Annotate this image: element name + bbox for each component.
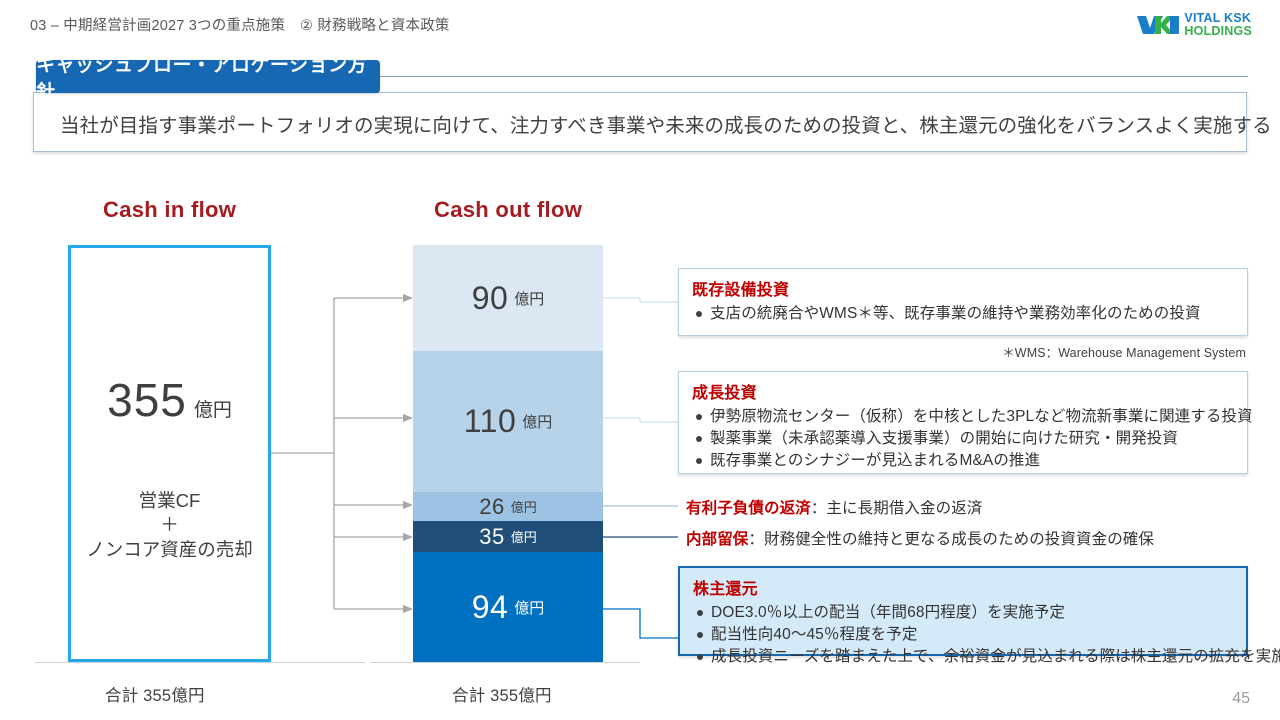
bullet-text: 配当性向40〜45％程度を予定: [711, 624, 917, 646]
segment-value-110: 110: [464, 403, 517, 440]
logo-line2: HOLDINGS: [1184, 25, 1252, 38]
cash-in-amount: 355 億円: [107, 373, 232, 427]
segment-value-94: 94: [472, 589, 509, 626]
cash-in-value: 355: [107, 373, 187, 427]
list-item: 製薬事業（未承認薬導入支援事業）の開始に向けた研究・開発投資: [692, 428, 1235, 450]
segment-unit-90: 億円: [514, 288, 544, 309]
note-debt-repayment: 有利子負債の返済：主に長期借入金の返済: [686, 496, 982, 518]
note-retained-earnings: 内部留保：財務健全性の維持と更なる成長のための投資資金の確保: [686, 527, 1154, 549]
page-number: 45: [1232, 690, 1250, 708]
cash-out-total: 合計 355億円: [452, 682, 552, 706]
bar-segment-shareholder-return: 94 億円: [413, 552, 603, 662]
bar-segment-debt-repayment: 26 億円: [413, 492, 603, 521]
bullet-dot-icon: [696, 311, 702, 317]
bullet-dot-icon: [697, 632, 703, 638]
bar-segment-existing-capex: 90 億円: [413, 245, 603, 351]
card-growth-bullets: 伊勢原物流センター（仮称）を中核とした3PLなど物流新事業に関連する投資 製薬事…: [692, 406, 1235, 472]
list-item: DOE3.0％以上の配当（年間68円程度）を実施予定: [693, 602, 1234, 624]
cash-out-stacked-bar: 90 億円 110 億円 26 億円 35 億円 94 億円: [413, 245, 603, 662]
card-existing-capex: 既存設備投資 支店の統廃合やWMS＊等、既存事業の維持や業務効率化のための投資: [678, 268, 1248, 336]
logo-wordmark: VITAL KSK HOLDINGS: [1184, 12, 1252, 37]
card-existing-bullets: 支店の統廃合やWMS＊等、既存事業の維持や業務効率化のための投資: [692, 303, 1235, 325]
card-growth-title: 成長投資: [692, 379, 1235, 403]
bullet-dot-icon: [696, 414, 702, 420]
logo-line1: VITAL KSK: [1184, 12, 1252, 25]
slide-root: 03 – 中期経営計画2027 3つの重点施策 ② 財務戦略と資本政策 VITA…: [0, 0, 1280, 720]
segment-unit-94: 億円: [514, 597, 544, 618]
segment-value-90: 90: [472, 280, 509, 317]
cash-in-box: 355 億円 営業CF ＋ ノンコア資産の売却: [68, 245, 271, 662]
segment-unit-35: 億円: [511, 527, 537, 546]
bullet-dot-icon: [696, 458, 702, 464]
card-shareholder-bullets: DOE3.0％以上の配当（年間68円程度）を実施予定 配当性向40〜45％程度を…: [693, 602, 1234, 668]
list-item: 成長投資ニーズを踏まえた上で、余裕資金が見込まれる際は株主還元の拡充を実施: [693, 646, 1234, 668]
bullet-text: 支店の統廃合やWMS＊等、既存事業の維持や業務効率化のための投資: [710, 303, 1201, 325]
bullet-text: 製薬事業（未承認薬導入支援事業）の開始に向けた研究・開発投資: [710, 428, 1178, 450]
note-debt-text: ：主に長期借入金の返済: [811, 500, 983, 517]
segment-value-26: 26: [479, 494, 504, 520]
company-logo: VITAL KSK HOLDINGS: [1137, 12, 1252, 37]
segment-unit-26: 億円: [511, 497, 537, 516]
banner-rule: [380, 76, 1248, 77]
list-item: 伊勢原物流センター（仮称）を中核とした3PLなど物流新事業に関連する投資: [692, 406, 1235, 428]
banner-subtitle: 当社が目指す事業ポートフォリオの実現に向けて、注力すべき事業や未来の成長のための…: [60, 105, 1240, 141]
vk-logo-icon: [1137, 15, 1179, 35]
list-item: 配当性向40〜45％程度を予定: [693, 624, 1234, 646]
note-debt-label: 有利子負債の返済: [686, 500, 811, 517]
list-item: 既存事業とのシナジーが見込まれるM&Aの推進: [692, 450, 1235, 472]
cash-in-note-line1: 営業CF: [86, 489, 253, 513]
note-retained-label: 内部留保: [686, 531, 748, 548]
note-retained-text: ：財務健全性の維持と更なる成長のための投資資金の確保: [748, 531, 1154, 548]
segment-value-35: 35: [479, 524, 504, 550]
bar-segment-growth-investment: 110 億円: [413, 351, 603, 492]
wms-footnote: ＊WMS：Warehouse Management System: [680, 342, 1246, 361]
bullet-text: 既存事業とのシナジーが見込まれるM&Aの推進: [710, 450, 1040, 472]
breadcrumb: 03 – 中期経営計画2027 3つの重点施策 ② 財務戦略と資本政策: [30, 14, 450, 35]
card-growth-investment: 成長投資 伊勢原物流センター（仮称）を中核とした3PLなど物流新事業に関連する投…: [678, 371, 1248, 474]
cash-in-note-line2: ＋: [86, 513, 253, 537]
bullet-dot-icon: [696, 436, 702, 442]
bar-segment-retained-earnings: 35 億円: [413, 521, 603, 552]
bullet-text: 伊勢原物流センター（仮称）を中核とした3PLなど物流新事業に関連する投資: [710, 406, 1253, 428]
cash-in-note-line3: ノンコア資産の売却: [86, 538, 253, 562]
cash-in-unit: 億円: [194, 395, 232, 422]
banner-tab-label: キャッシュフロー・アロケーション方針: [36, 60, 380, 93]
bullet-dot-icon: [697, 654, 703, 660]
cash-in-heading: Cash in flow: [103, 197, 236, 223]
card-shareholder-return: 株主還元 DOE3.0％以上の配当（年間68円程度）を実施予定 配当性向40〜4…: [678, 566, 1248, 656]
card-shareholder-title: 株主還元: [693, 575, 1234, 599]
segment-unit-110: 億円: [522, 411, 552, 432]
bullet-text: 成長投資ニーズを踏まえた上で、余裕資金が見込まれる際は株主還元の拡充を実施: [711, 646, 1280, 668]
bullet-dot-icon: [697, 610, 703, 616]
cash-in-total: 合計 355億円: [105, 682, 205, 706]
bullet-text: DOE3.0％以上の配当（年間68円程度）を実施予定: [711, 602, 1065, 624]
cash-in-note: 営業CF ＋ ノンコア資産の売却: [86, 489, 253, 562]
baseline-right: [370, 662, 640, 663]
list-item: 支店の統廃合やWMS＊等、既存事業の維持や業務効率化のための投資: [692, 303, 1235, 325]
cash-out-heading: Cash out flow: [434, 197, 582, 223]
baseline-left: [35, 662, 365, 663]
card-existing-title: 既存設備投資: [692, 276, 1235, 300]
